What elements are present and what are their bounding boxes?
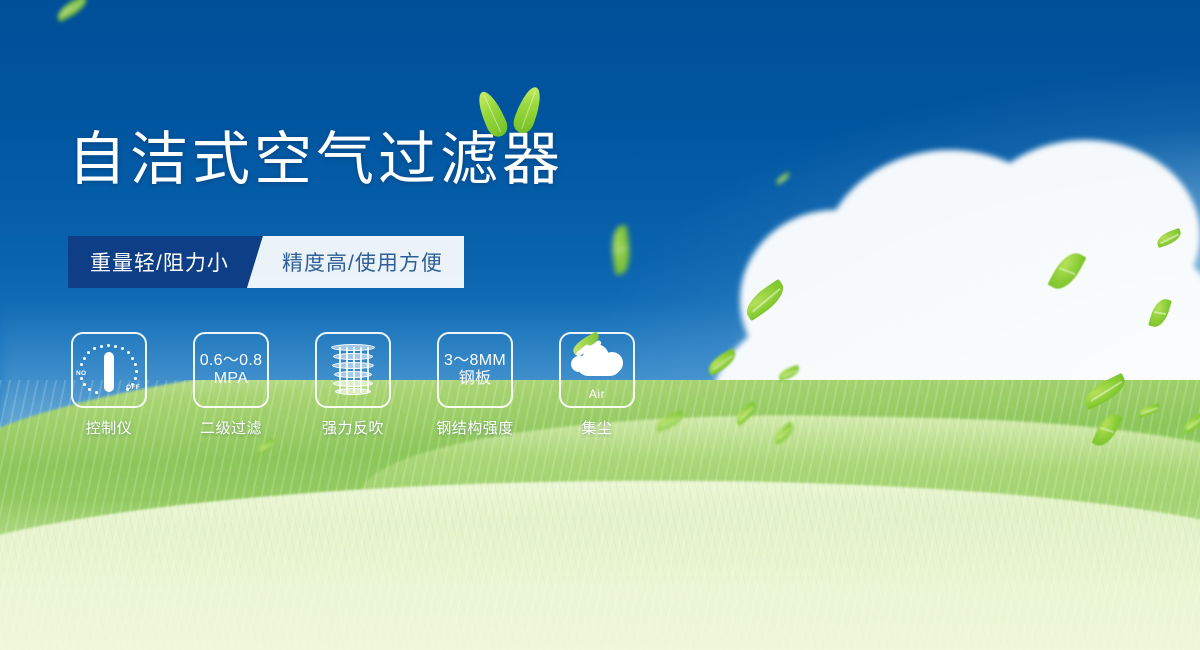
steel-material: 钢板 — [459, 370, 492, 388]
sprout-leaf-left — [473, 88, 511, 140]
cloud-air-icon — [569, 340, 625, 386]
title-block: 自洁式空气过滤器 — [68, 130, 564, 191]
feature-label: 钢结构强度 — [436, 417, 514, 438]
feature-label: 二级过滤 — [200, 417, 262, 438]
product-banner: 自洁式空气过滤器 重量轻/阻力小 精度高/使用方便 — [0, 0, 1200, 650]
pressure-value: 0.6～0.8 — [200, 352, 263, 370]
coil-filter-icon — [328, 344, 378, 396]
feature-icon-box: NO OFF — [71, 332, 147, 408]
feature-item-steel-strength[interactable]: 3～8MM 钢板 钢结构强度 — [436, 332, 514, 438]
steel-thickness: 3～8MM — [444, 352, 506, 370]
feature-label: 强力反吹 — [322, 417, 384, 438]
feature-label: 集尘 — [581, 417, 612, 438]
gauge-needle — [104, 352, 114, 392]
feature-icon-box: 3～8MM 钢板 — [437, 332, 513, 408]
feature-icon-box — [315, 332, 391, 408]
subtitle-right: 精度高/使用方便 — [247, 236, 464, 288]
air-label: Air — [589, 387, 605, 401]
gauge-label-no: NO — [76, 370, 86, 377]
feature-icon-box: 0.6～0.8 MPA — [193, 332, 269, 408]
feature-icon-box: Air — [559, 332, 635, 408]
feature-label: 控制仪 — [86, 417, 133, 438]
feature-list: NO OFF 控制仪 0.6～0.8 MPA 二级过滤 — [70, 332, 636, 438]
sprout-leaf-right — [510, 84, 545, 136]
subtitle-left: 重量轻/阻力小 — [68, 236, 263, 288]
gauge-label-off: OFF — [126, 384, 140, 391]
feature-item-dust-collection[interactable]: Air 集尘 — [558, 332, 636, 438]
feature-item-controller[interactable]: NO OFF 控制仪 — [70, 332, 148, 438]
feature-item-secondary-filter[interactable]: 0.6～0.8 MPA 二级过滤 — [192, 332, 270, 438]
gauge-icon: NO OFF — [80, 343, 138, 397]
sprout-leaves-icon — [472, 86, 562, 142]
pressure-unit: MPA — [214, 370, 248, 388]
feature-item-blowback[interactable]: 强力反吹 — [314, 332, 392, 438]
subtitle-bar: 重量轻/阻力小 精度高/使用方便 — [68, 236, 464, 288]
